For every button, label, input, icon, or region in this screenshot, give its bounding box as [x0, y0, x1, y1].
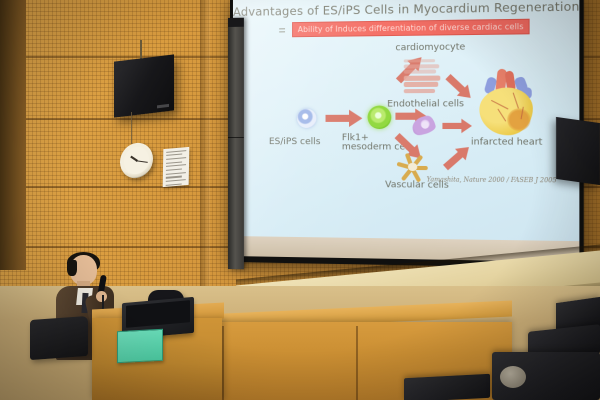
infarcted-heart-icon: [475, 69, 537, 138]
label-es-ips-cells: ES/iPS cells: [269, 137, 321, 147]
wall-speaker-box: [114, 54, 174, 117]
slide-highlight-banner: Ability of Induces differentiation of di…: [292, 19, 530, 38]
teal-folder: [117, 329, 163, 363]
arrow-vascular-to-heart-icon: [440, 141, 474, 173]
label-infarcted-heart: infarcted heart: [471, 137, 543, 148]
cardiomyocyte-icon: [404, 59, 441, 94]
projection-screen: Advantages of ES/iPS Cells in Myocardium…: [230, 0, 584, 268]
line-array-speaker-column: [228, 18, 244, 270]
arrow-right-icon: [326, 110, 363, 127]
wall-notice-sheet: [163, 147, 190, 187]
clock-center-pin: [135, 159, 138, 162]
audience-head: [500, 366, 526, 388]
slide-surface: Advantages of ES/iPS Cells in Myocardium…: [233, 0, 579, 241]
counter-seam: [222, 326, 224, 400]
es-ips-cell-icon: [297, 109, 316, 128]
slide-equation-row: = Ability of Induces differentiation of …: [233, 18, 579, 38]
vascular-cell-icon: [395, 156, 430, 181]
laptop-screen: [126, 300, 190, 328]
audience-seat: [404, 374, 490, 400]
wall-edge-left: [0, 0, 26, 270]
equals-sign: =: [279, 23, 286, 37]
speaker-mount-bracket: [140, 40, 142, 60]
presenter-hair-side: [67, 260, 77, 276]
black-bag: [30, 316, 88, 360]
label-cardiomyocyte: cardiomyocyte: [395, 42, 465, 53]
slide-title: Advantages of ES/iPS Cells in Myocardium…: [233, 0, 579, 19]
speaker-cable: [131, 112, 132, 144]
slide-citation: Yamashita, Nature 2000 / FASEB J 2005: [427, 176, 557, 184]
label-endothelial-cells: Endothelial cells: [387, 99, 464, 110]
wall-mounted-monitor: [556, 117, 600, 185]
counter-seam: [356, 326, 358, 400]
lecture-hall-screenshot: Advantages of ES/iPS Cells in Myocardium…: [0, 0, 600, 400]
arrow-endothelial-to-heart-icon: [442, 119, 472, 133]
